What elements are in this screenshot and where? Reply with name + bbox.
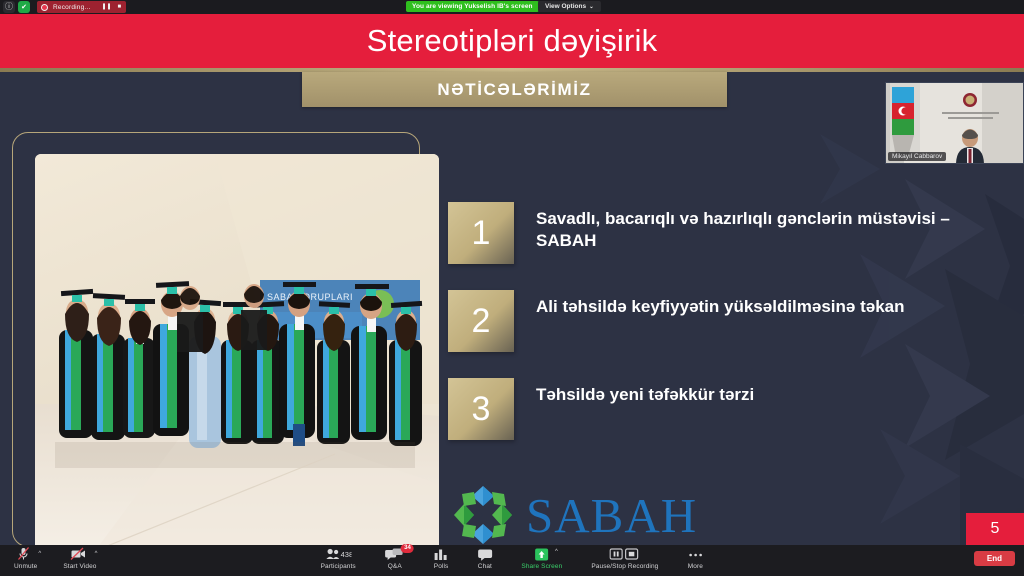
view-options-label: View Options bbox=[545, 3, 586, 10]
slide-title: Stereotipləri dəyişirik bbox=[367, 23, 658, 59]
sabah-emblem-icon bbox=[452, 484, 514, 545]
zoom-top-bar: ⓘ ✔ Recording... ❚❚ ■ You are viewing Yu… bbox=[0, 0, 1024, 14]
point-text: Savadlı, bacarıqlı və hazırlıqlı gənclər… bbox=[536, 202, 956, 252]
participants-button[interactable]: 438 Participants bbox=[321, 547, 356, 570]
graduates-photo: SABAH QRUPLARI bbox=[35, 154, 439, 545]
recording-label: Recording... bbox=[53, 4, 90, 11]
qa-button[interactable]: 34 Q&A bbox=[385, 547, 405, 570]
point-number: 2 bbox=[472, 304, 491, 338]
slide-page-number-value: 5 bbox=[991, 520, 1000, 538]
shared-slide: Stereotipləri dəyişirik NƏTİCƏLƏRİMİZ bbox=[0, 14, 1024, 545]
point-number-badge: 2 bbox=[448, 290, 514, 352]
start-video-button[interactable]: ^ Start Video bbox=[63, 547, 96, 570]
chat-icon bbox=[477, 547, 492, 561]
more-icon bbox=[687, 547, 703, 561]
point-number-badge: 1 bbox=[448, 202, 514, 264]
point-number: 3 bbox=[472, 392, 491, 426]
unmute-button[interactable]: ^ Unmute bbox=[14, 547, 37, 570]
stop-recording-icon[interactable]: ■ bbox=[118, 4, 122, 10]
point-text: Təhsildə yeni təfəkkür tərzi bbox=[536, 378, 754, 406]
start-video-label: Start Video bbox=[63, 563, 96, 570]
chevron-up-icon[interactable]: ^ bbox=[38, 551, 41, 557]
qa-icon: 34 bbox=[385, 547, 405, 561]
video-muted-icon: ^ bbox=[70, 547, 89, 561]
svg-text:SABAH QRUPLARI: SABAH QRUPLARI bbox=[267, 292, 353, 302]
polls-button[interactable]: Polls bbox=[434, 547, 449, 570]
zoom-bottom-toolbar: ^ Unmute ^ Start Video bbox=[0, 545, 1024, 576]
qa-label: Q&A bbox=[388, 563, 402, 570]
recording-cluster: ⓘ ✔ Recording... ❚❚ ■ bbox=[3, 1, 126, 13]
list-item: 3 Təhsildə yeni təfəkkür tərzi bbox=[448, 378, 968, 440]
end-meeting-button[interactable]: End bbox=[974, 551, 1015, 566]
recording-indicator: Recording... ❚❚ ■ bbox=[37, 1, 126, 13]
section-banner-label: NƏTİCƏLƏRİMİZ bbox=[437, 80, 591, 100]
pause-stop-recording-button[interactable]: Pause/Stop Recording bbox=[591, 547, 658, 570]
chevron-up-icon[interactable]: ^ bbox=[555, 549, 558, 555]
pause-stop-recording-label: Pause/Stop Recording bbox=[591, 563, 658, 570]
zoom-screen-share-window: ⓘ ✔ Recording... ❚❚ ■ You are viewing Yu… bbox=[0, 0, 1024, 576]
participants-label: Participants bbox=[321, 563, 356, 570]
more-label: More bbox=[688, 563, 703, 570]
recording-dot-icon bbox=[41, 4, 48, 11]
microphone-muted-icon: ^ bbox=[17, 547, 34, 561]
share-screen-button[interactable]: ^ Share Screen bbox=[521, 547, 562, 570]
qa-badge: 34 bbox=[401, 544, 414, 553]
polls-icon bbox=[434, 547, 448, 561]
share-screen-label: Share Screen bbox=[521, 563, 562, 570]
polls-label: Polls bbox=[434, 563, 449, 570]
screen-share-banner: You are viewing Yukselish IB's screen bbox=[406, 1, 539, 12]
speaker-video-thumbnail[interactable]: Mikayıl Cabbarov bbox=[885, 82, 1024, 164]
list-item: 1 Savadlı, bacarıqlı və hazırlıqlı gəncl… bbox=[448, 202, 968, 264]
shield-icon[interactable]: ✔ bbox=[18, 1, 30, 13]
share-screen-icon: ^ bbox=[535, 547, 549, 561]
list-item: 2 Ali təhsildə keyfiyyətin yüksəldilməsi… bbox=[448, 290, 968, 352]
participant-name-label: Mikayıl Cabbarov bbox=[888, 152, 946, 161]
section-banner: NƏTİCƏLƏRİMİZ bbox=[302, 72, 727, 107]
view-options-button[interactable]: View Options⌄ bbox=[538, 1, 601, 12]
chat-label: Chat bbox=[478, 563, 492, 570]
participants-count: 438 bbox=[340, 550, 351, 559]
chevron-down-icon: ⌄ bbox=[589, 4, 594, 10]
point-number-badge: 3 bbox=[448, 378, 514, 440]
chevron-up-icon[interactable]: ^ bbox=[95, 551, 98, 557]
participants-icon: 438 bbox=[325, 547, 351, 561]
info-icon[interactable]: ⓘ bbox=[3, 1, 15, 13]
results-list: 1 Savadlı, bacarıqlı və hazırlıqlı gəncl… bbox=[448, 202, 968, 466]
chat-button[interactable]: Chat bbox=[477, 547, 492, 570]
pause-stop-recording-icon bbox=[610, 547, 640, 561]
more-button[interactable]: More bbox=[687, 547, 703, 570]
sabah-logo: SABAH bbox=[452, 484, 697, 545]
unmute-label: Unmute bbox=[14, 563, 37, 570]
slide-header: Stereotipləri dəyişirik bbox=[0, 14, 1024, 68]
point-text: Ali təhsildə keyfiyyətin yüksəldilməsinə… bbox=[536, 290, 905, 318]
slide-page-number: 5 bbox=[966, 513, 1024, 545]
pause-recording-icon[interactable]: ❚❚ bbox=[101, 4, 111, 10]
point-number: 1 bbox=[472, 216, 491, 250]
sabah-wordmark: SABAH bbox=[526, 491, 697, 540]
